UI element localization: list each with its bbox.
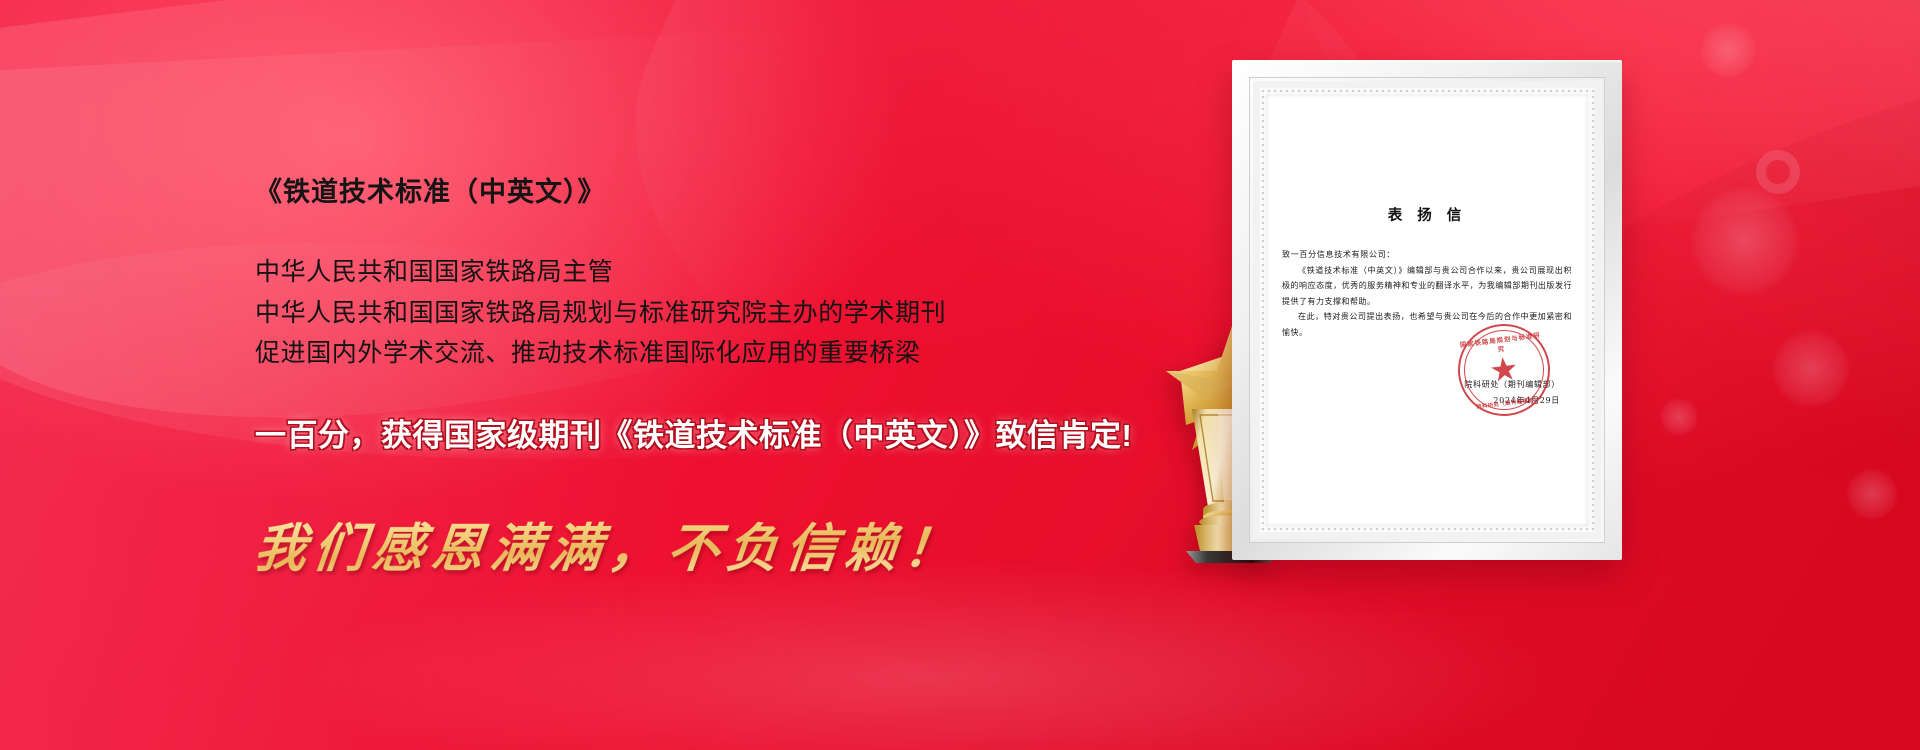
journal-description-line-3: 促进国内外学术交流、推动技术标准国际化应用的重要桥梁 [255,333,1215,374]
certificate-frame: 表 扬 信 致一百分信息技术有限公司： 《铁道技术标准（中英文）》编辑部与贵公司… [1232,60,1622,560]
certificate-paper: 表 扬 信 致一百分信息技术有限公司： 《铁道技术标准（中英文）》编辑部与贵公司… [1266,94,1588,526]
bokeh-circle-6 [1660,398,1698,436]
certificate-signature-block: 院科研处（期刊编辑部） 2024年4月29日 国家铁路局规划与标准研究 院科研处… [1282,377,1572,411]
banner-slogan: 我们感恩满满，不负信赖！ [251,506,1219,581]
certificate-salutation: 致一百分信息技术有限公司： [1282,247,1572,263]
journal-description-line-1: 中华人民共和国国家铁路局主管 [255,252,1215,293]
bokeh-circle-5 [1846,468,1898,520]
certificate-frame-inner: 表 扬 信 致一百分信息技术有限公司： 《铁道技术标准（中英文）》编辑部与贵公司… [1249,77,1605,543]
bokeh-circle-4 [1772,330,1850,408]
banner-headline: 一百分，获得国家级期刊《铁道技术标准（中英文）》致信肯定! [255,416,1215,456]
banner-text-column: 《铁道技术标准（中英文）》 中华人民共和国国家铁路局主管 中华人民共和国国家铁路… [255,176,1215,581]
journal-description-list: 中华人民共和国国家铁路局主管 中华人民共和国国家铁路局规划与标准研究院主办的学术… [255,252,1215,374]
certificate-mat: 表 扬 信 致一百分信息技术有限公司： 《铁道技术标准（中英文）》编辑部与贵公司… [1253,81,1601,539]
promo-banner: 《铁道技术标准（中英文）》 中华人民共和国国家铁路局主管 中华人民共和国国家铁路… [0,0,1920,750]
journal-title: 《铁道技术标准（中英文）》 [255,176,1215,208]
journal-description-line-2: 中华人民共和国国家铁路局规划与标准研究院主办的学术期刊 [255,293,1215,334]
certificate-title: 表 扬 信 [1282,204,1572,225]
certificate-paragraph-1: 《铁道技术标准（中英文）》编辑部与贵公司合作以来，贵公司展现出积极的响应态度，优… [1282,263,1572,310]
